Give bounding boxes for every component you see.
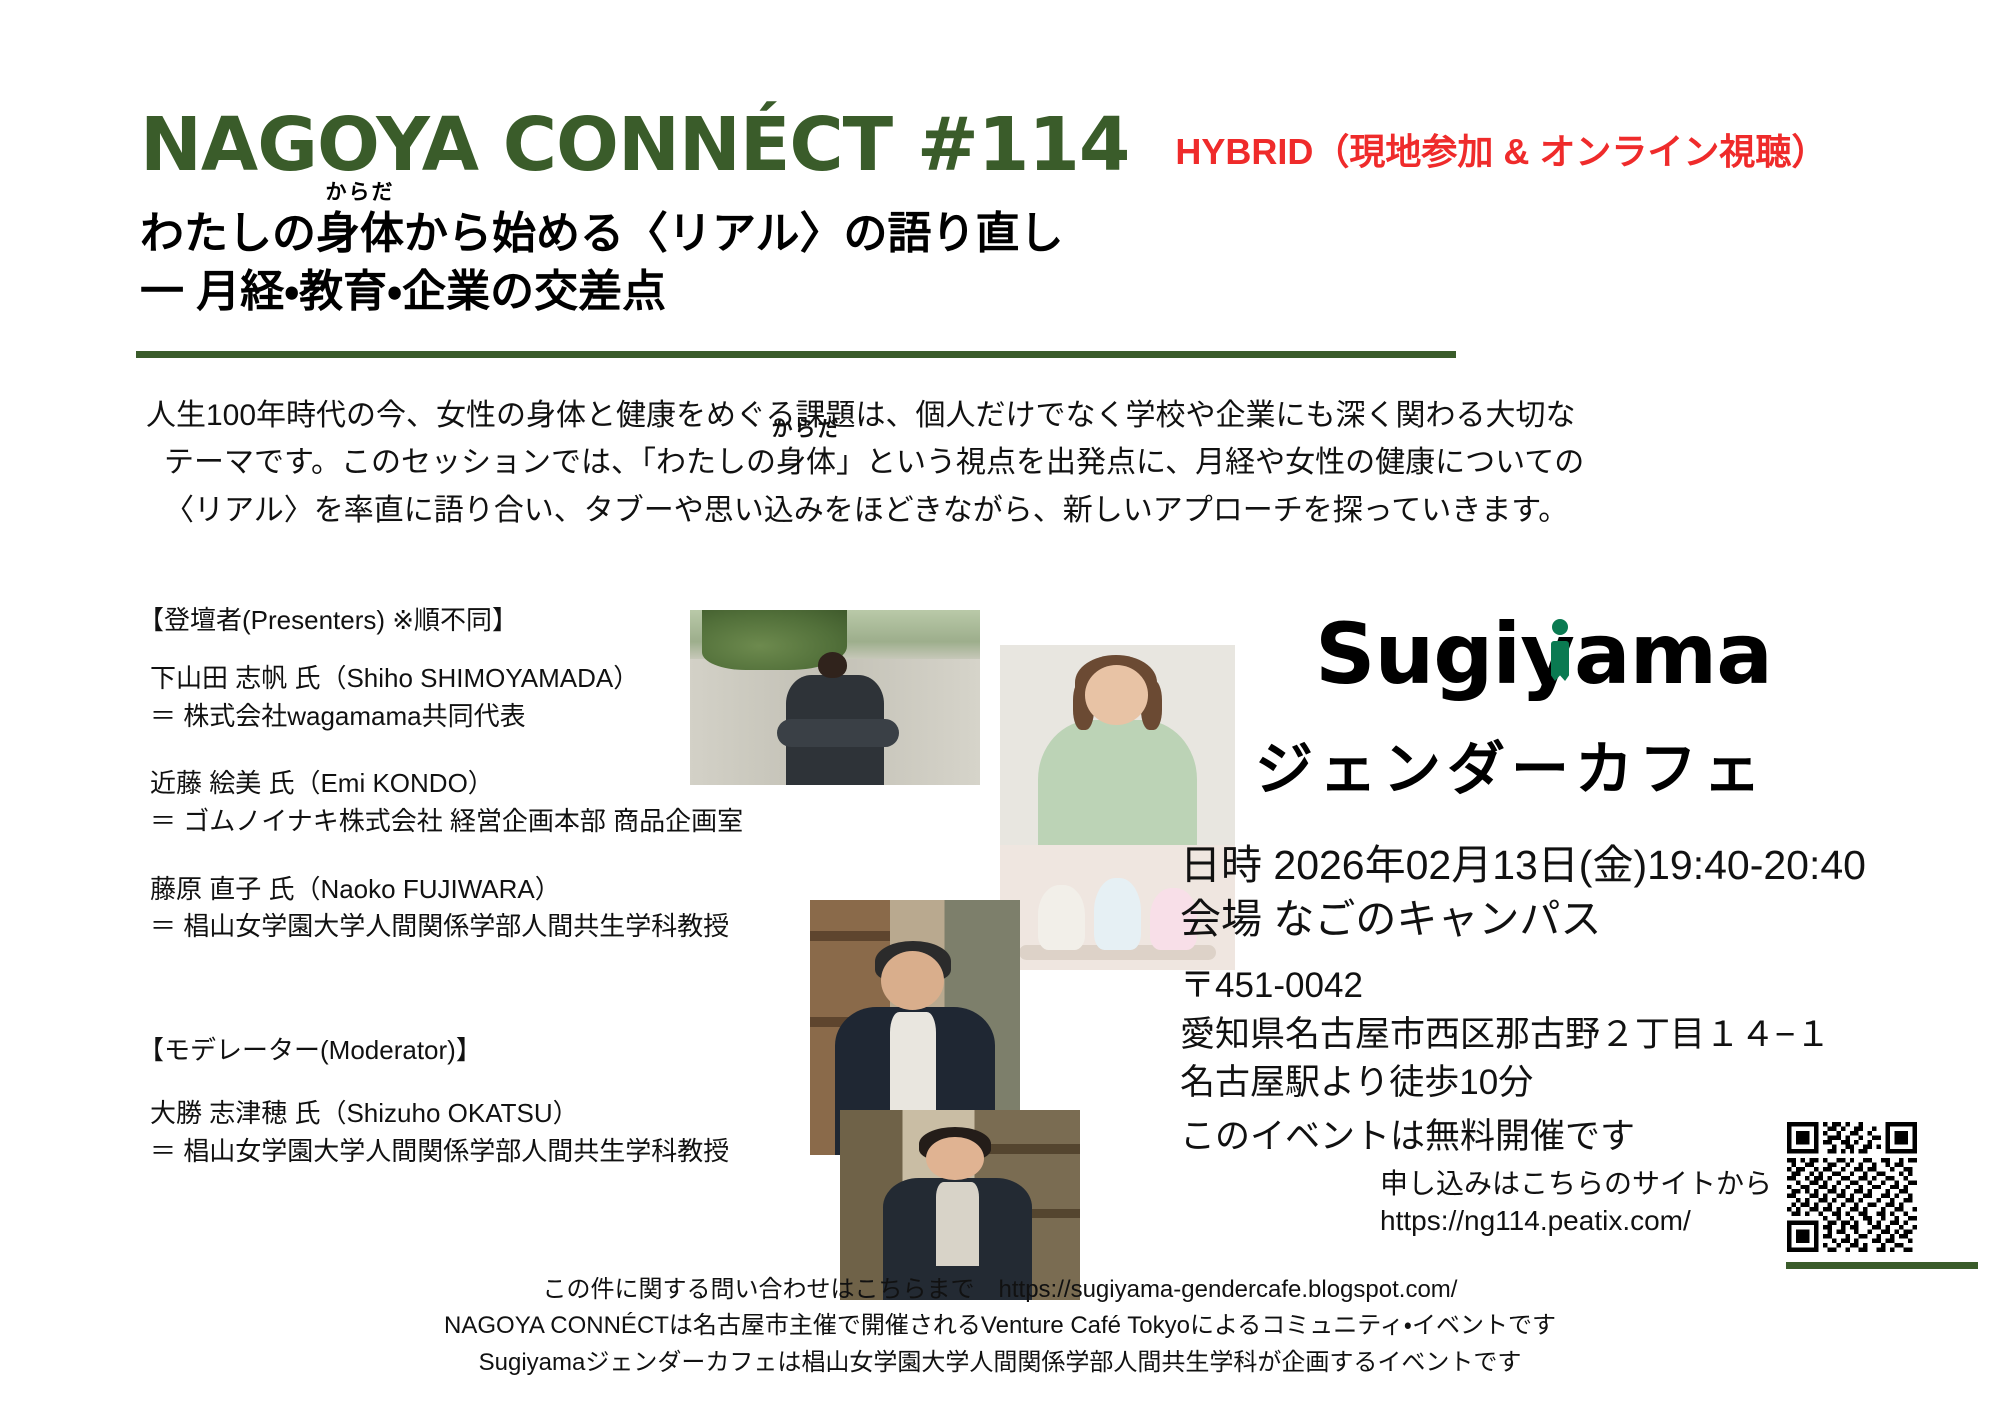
list-item: 藤原 直子 氏（Naoko FUJIWARA） ＝ 椙山女学園大学人間関係学部人… bbox=[150, 871, 910, 946]
presenter-name: 藤原 直子 氏（Naoko FUJIWARA） bbox=[150, 871, 910, 909]
presenter-photo-shimoyamada bbox=[690, 610, 980, 785]
lead-line-2: テーマです。このセッションでは、「わたしのからだ身体」という視点を出発点に、月経… bbox=[146, 439, 1876, 486]
ruby-annotation-2: からだ bbox=[772, 413, 841, 446]
ruby-group-karada-2: からだ身体 bbox=[776, 439, 836, 486]
event-address: 愛知県名古屋市西区那古野２丁目１４−１ bbox=[1180, 1011, 2000, 1059]
page-title: NAGOYA CONNÉCT #114 bbox=[140, 108, 1129, 182]
event-access: 名古屋駅より徒歩10分 bbox=[1180, 1059, 2000, 1107]
footer-contact-line: この件に関する問い合わせはこちらまで https://sugiyama-gend… bbox=[0, 1272, 2000, 1308]
event-venue: 会場 なごのキャンパス bbox=[1180, 892, 2000, 946]
lead-line-1: 人生100年時代の今、女性の身体と健康をめぐる課題は、個人だけでなく学校や企業に… bbox=[146, 392, 1876, 439]
subtitle-line-2: 一 月経・教育・企業の交差点 bbox=[140, 263, 1450, 321]
event-datetime: 日時 2026年02月13日(金)19:40-20:40 bbox=[1180, 838, 2000, 892]
apply-label: 申し込みはこちらのサイトから bbox=[1380, 1162, 1772, 1202]
lead-paragraph: 人生100年時代の今、女性の身体と健康をめぐる課題は、個人だけでなく学校や企業に… bbox=[146, 392, 1876, 534]
title-divider bbox=[136, 351, 1456, 358]
hybrid-badge: HYBRID（現地参加 & オンライン視聴） bbox=[1175, 134, 1827, 170]
sugiyama-logo: Sugiyama bbox=[1315, 612, 1772, 696]
ruby-base-2: 身体 bbox=[776, 446, 836, 479]
sugiyama-logo-wordmark: Sugiyama bbox=[1315, 612, 1772, 696]
presenters-heading: 【登壇者(Presenters) ※順不同】 bbox=[138, 600, 518, 637]
footer-nagoya-connect-line: NAGOYA CONNÉCTは名古屋市主催で開催されるVenture Café … bbox=[0, 1308, 2000, 1344]
apply-url-link[interactable]: https://ng114.peatix.com/ bbox=[1380, 1205, 1691, 1237]
moderator-affiliation: ＝ 椙山女学園大学人間関係学部人間共生学科教授 bbox=[150, 1133, 910, 1171]
tree-icon bbox=[1548, 619, 1571, 681]
footer-divider bbox=[1786, 1262, 1978, 1269]
subtitle-block: わたしのからだ身体から始める〈リアル〉の語り直し 一 月経・教育・企業の交差点 bbox=[140, 205, 1450, 321]
presenter-affiliation: ＝ ゴムノイナキ株式会社 経営企画本部 商品企画室 bbox=[150, 803, 910, 841]
poster-footer: この件に関する問い合わせはこちらまで https://sugiyama-gend… bbox=[0, 1272, 2000, 1381]
event-fee: このイベントは無料開催です bbox=[1180, 1108, 1635, 1159]
event-details: 日時 2026年02月13日(金)19:40-20:40 会場 なごのキャンパス… bbox=[1180, 838, 2000, 1107]
lead-line2-b: 」という視点を出発点に、月経や女性の健康についての bbox=[836, 446, 1584, 479]
subtitle-line1-post: から始める〈リアル〉の語り直し bbox=[404, 209, 1064, 258]
moderator-entry: 大勝 志津穂 氏（Shizuho OKATSU） ＝ 椙山女学園大学人間関係学部… bbox=[150, 1095, 910, 1170]
ruby-group-karada: からだ身体 bbox=[316, 205, 404, 263]
ruby-annotation: からだ bbox=[326, 179, 395, 207]
event-poster: NAGOYA CONNÉCT #114 HYBRID（現地参加 & オンライン視… bbox=[0, 0, 2000, 1414]
moderator-name: 大勝 志津穂 氏（Shizuho OKATSU） bbox=[150, 1095, 910, 1133]
presenter-affiliation: ＝ 椙山女学園大学人間関係学部人間共生学科教授 bbox=[150, 908, 910, 946]
poster-header: NAGOYA CONNÉCT #114 HYBRID（現地参加 & オンライン視… bbox=[140, 108, 1900, 182]
event-postal-code: 〒451-0042 bbox=[1180, 962, 2000, 1010]
subtitle-line-1: わたしのからだ身体から始める〈リアル〉の語り直し bbox=[140, 205, 1450, 263]
qr-code[interactable] bbox=[1787, 1122, 1917, 1252]
sugiyama-logo-subtitle: ジェンダーカフェ bbox=[1255, 722, 1767, 806]
footer-sugiyama-line: Sugiyamaジェンダーカフェは椙山女学園大学人間関係学部人間共生学科が企画す… bbox=[0, 1345, 2000, 1381]
lead-line2-a: テーマです。このセッションでは、「わたしの bbox=[164, 446, 776, 479]
ruby-base: 身体 bbox=[316, 209, 404, 258]
subtitle-line1-pre: わたしの bbox=[140, 209, 316, 258]
moderator-heading: 【モデレーター(Moderator)】 bbox=[138, 1030, 482, 1067]
lead-line-3: 〈リアル〉を率直に語り合い、タブーや思い込みをほどきながら、新しいアプローチを探… bbox=[146, 487, 1876, 534]
